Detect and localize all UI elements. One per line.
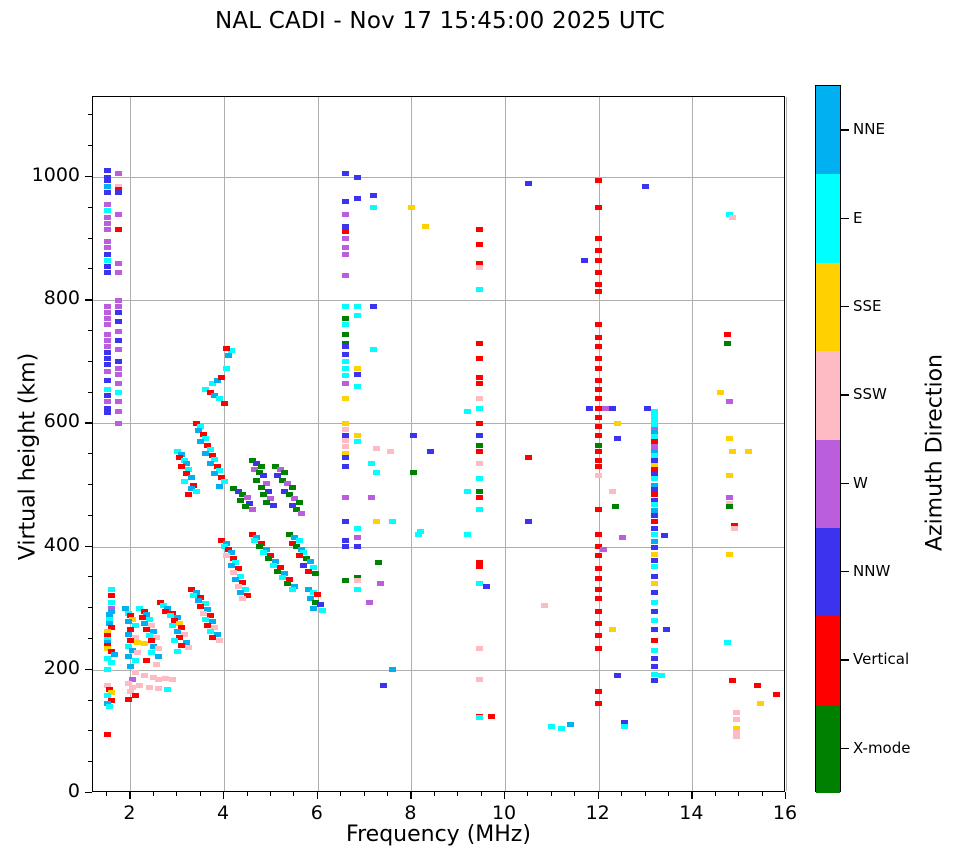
echo-cell (342, 273, 349, 278)
colorbar-segment (816, 528, 840, 616)
echo-cell (476, 433, 483, 438)
echo-cell (178, 643, 185, 648)
echo-cell (314, 592, 321, 597)
echo-cell (602, 406, 609, 411)
echo-cell (342, 245, 349, 250)
echo-cell (104, 393, 111, 398)
echo-cell (104, 322, 111, 327)
x-minor-tick (527, 792, 528, 796)
y-tick (85, 422, 92, 423)
echo-cell (155, 677, 162, 682)
echo-cell (595, 335, 602, 340)
echo-cell (108, 600, 115, 605)
x-minor-tick (293, 792, 294, 796)
echo-cell (342, 438, 349, 443)
echo-cell (300, 563, 307, 568)
colorbar-segment (816, 705, 840, 793)
echo-cell (651, 600, 658, 605)
echo-cell (104, 332, 111, 337)
echo-cell (207, 629, 214, 634)
echo-cell (342, 421, 349, 426)
echo-cell (251, 538, 258, 543)
x-minor-tick (364, 792, 365, 796)
echo-cell (342, 495, 349, 500)
y-tick (85, 176, 92, 177)
echo-cell (651, 519, 658, 524)
echo-cell (621, 724, 628, 729)
echo-cell (342, 578, 349, 583)
echo-cell (342, 373, 349, 378)
echo-cell (225, 353, 232, 358)
echo-cell (370, 347, 377, 352)
echo-cell (410, 433, 417, 438)
echo-cell (342, 538, 349, 543)
echo-cell (476, 375, 483, 380)
echo-cell (476, 443, 483, 448)
echo-cell (476, 356, 483, 361)
x-tick (598, 792, 599, 799)
colorbar-tick (841, 129, 849, 130)
echo-cell (237, 590, 244, 595)
echo-cell (354, 535, 361, 540)
echo-cell (377, 581, 384, 586)
x-tick-label: 16 (755, 802, 815, 824)
echo-cell (595, 646, 602, 651)
echo-cell (178, 464, 185, 469)
echo-cell (127, 664, 134, 669)
echo-cell (342, 544, 349, 549)
echo-cell (595, 248, 602, 253)
echo-cell (221, 401, 228, 406)
echo-cell (342, 444, 349, 449)
echo-cell (651, 664, 658, 669)
echo-cell (115, 421, 122, 426)
colorbar-tick (841, 306, 849, 307)
echo-cell (354, 304, 361, 309)
echo-cell (139, 615, 146, 620)
echo-cell (609, 489, 616, 494)
echo-cell (567, 722, 574, 727)
echo-cell (125, 697, 132, 702)
echo-cell (258, 485, 265, 490)
echo-cell (115, 319, 122, 324)
colorbar-segment (816, 616, 840, 704)
echo-cell (595, 566, 602, 571)
x-minor-tick (270, 792, 271, 796)
echo-cell (200, 611, 207, 616)
echo-cell (476, 265, 483, 270)
echo-cell (296, 553, 303, 558)
y-tick (85, 299, 92, 300)
x-tick (129, 792, 130, 799)
x-minor-tick (340, 792, 341, 796)
echo-cell (595, 270, 602, 275)
x-minor-tick (551, 792, 552, 796)
echo-cell (104, 304, 111, 309)
echo-cell (342, 455, 349, 460)
echo-cell (595, 406, 602, 411)
echo-cell (729, 215, 736, 220)
echo-cell (115, 359, 122, 364)
echo-cell (104, 378, 111, 383)
echo-cell (155, 686, 162, 691)
echo-cell (202, 451, 209, 456)
page-title: NAL CADI - Nov 17 15:45:00 2025 UTC (0, 8, 880, 34)
echo-cell (115, 227, 122, 232)
y-minor-tick (88, 268, 92, 269)
echo-cell (141, 673, 148, 678)
colorbar-title: Azimuth Direction (923, 293, 948, 613)
echo-cell (270, 503, 277, 508)
colorbar-segment (816, 174, 840, 262)
echo-cell (305, 569, 312, 574)
echo-cell (162, 676, 169, 681)
echo-cell (239, 596, 246, 601)
echo-cell (724, 332, 731, 337)
echo-cell (132, 658, 139, 663)
echo-cell (342, 236, 349, 241)
colorbar-segment (816, 263, 840, 351)
echo-cell (476, 507, 483, 512)
echo-cell (284, 581, 291, 586)
echo-cell (342, 332, 349, 337)
echo-cell (104, 208, 111, 213)
echo-cell (595, 344, 602, 349)
echo-cell (600, 547, 607, 552)
echo-cell (726, 495, 733, 500)
echo-cell (249, 507, 256, 512)
echo-cell (368, 495, 375, 500)
echo-cell (307, 559, 314, 564)
echo-cell (104, 356, 111, 361)
echo-cell (127, 638, 134, 643)
echo-cell (370, 205, 377, 210)
echo-cell (342, 359, 349, 364)
echo-cell (644, 406, 651, 411)
echo-cell (651, 678, 658, 683)
echo-cell (296, 538, 303, 543)
echo-cell (595, 689, 602, 694)
x-minor-tick (457, 792, 458, 796)
echo-cell (104, 245, 111, 250)
echo-cell (104, 215, 111, 220)
echo-cell (258, 464, 265, 469)
echo-cell (558, 726, 565, 731)
echo-cell (235, 584, 242, 589)
echo-cell (115, 409, 122, 414)
echo-cell (595, 443, 602, 448)
echo-cell (115, 304, 122, 309)
echo-cell (476, 476, 483, 481)
echo-cell (104, 732, 111, 737)
echo-cell (270, 563, 277, 568)
y-minor-tick (88, 730, 92, 731)
echo-cell (476, 461, 483, 466)
echo-cell (595, 178, 602, 183)
echo-cell (373, 446, 380, 451)
x-tick (691, 792, 692, 799)
echo-cell (342, 199, 349, 204)
echo-cell (164, 687, 171, 692)
echo-cell (354, 313, 361, 318)
echo-cell (174, 649, 181, 654)
echo-cell (115, 298, 122, 303)
echo-cell (354, 433, 361, 438)
echo-cell (651, 552, 658, 557)
colorbar-label: Vertical (853, 650, 909, 668)
x-axis-title: Frequency (MHz) (92, 822, 785, 847)
echo-cell (595, 553, 602, 558)
x-tick (223, 792, 224, 799)
echo-cell (216, 638, 223, 643)
echo-cell (595, 621, 602, 626)
echo-cell (595, 587, 602, 592)
echo-cell (366, 600, 373, 605)
colorbar-label: E (853, 209, 862, 227)
echo-cell (595, 633, 602, 638)
y-minor-tick (88, 114, 92, 115)
gridline-vertical (786, 97, 787, 791)
echo-cell (342, 229, 349, 234)
echo-cell (595, 473, 602, 478)
echo-cell (342, 316, 349, 321)
echo-cell (104, 270, 111, 275)
echo-cell (354, 526, 361, 531)
echo-cell (619, 535, 626, 540)
echo-cell (354, 384, 361, 389)
echo-cell (104, 310, 111, 315)
colorbar-label: X-mode (853, 739, 910, 757)
echo-cell (375, 560, 382, 565)
echo-cell (581, 258, 588, 263)
echo-cell (745, 449, 752, 454)
echo-cell (115, 399, 122, 404)
colorbar-tick (841, 394, 849, 395)
echo-cell (193, 489, 200, 494)
echo-cell (171, 638, 178, 643)
echo-cell (525, 455, 532, 460)
echo-cell (476, 287, 483, 292)
echo-cell (317, 602, 324, 607)
y-axis-title: Virtual height (km) (16, 307, 41, 607)
echo-cell (726, 436, 733, 441)
echo-cell (342, 381, 349, 386)
echo-cell (108, 593, 115, 598)
colorbar-label: SSW (853, 385, 887, 403)
echo-cell (476, 406, 483, 411)
echo-cell (253, 478, 260, 483)
x-minor-tick (153, 792, 154, 796)
echo-cell (298, 511, 305, 516)
echo-cell (651, 545, 658, 550)
y-tick (85, 669, 92, 670)
echo-cell (115, 381, 122, 386)
y-minor-tick (88, 392, 92, 393)
echo-cell (726, 504, 733, 509)
echo-cell (216, 484, 223, 489)
y-minor-tick (88, 576, 92, 577)
echo-cell (209, 635, 216, 640)
echo-cell (464, 409, 471, 414)
y-tick-label: 0 (10, 780, 80, 802)
echo-cell (104, 316, 111, 321)
echo-cell (143, 658, 150, 663)
echo-cell (312, 571, 319, 576)
echo-cell (223, 346, 230, 351)
echo-cell (663, 627, 670, 632)
echo-cell (115, 171, 122, 176)
x-minor-tick (176, 792, 177, 796)
echo-cell (104, 252, 111, 257)
echo-cell (422, 224, 429, 229)
echo-cell (296, 500, 303, 505)
echo-cell (661, 533, 668, 538)
echo-cell (595, 576, 602, 581)
echo-cell (651, 672, 658, 677)
colorbar-tick (841, 571, 849, 572)
echo-cell (104, 184, 111, 189)
echo-cell (595, 701, 602, 706)
x-tick (317, 792, 318, 799)
echo-cell (104, 344, 111, 349)
echo-cell (342, 396, 349, 401)
echo-cell (115, 190, 122, 195)
echo-cell (108, 587, 115, 592)
echo-cell (651, 513, 658, 518)
echo-cell (265, 556, 272, 561)
x-tick-label: 2 (99, 802, 159, 824)
echo-cell (380, 683, 387, 688)
echo-cell (595, 596, 602, 601)
echo-cell (373, 470, 380, 475)
echo-cell (595, 449, 602, 454)
echo-cell (197, 604, 204, 609)
echo-cell (651, 648, 658, 653)
colorbar-tick (841, 483, 849, 484)
echo-cell (174, 629, 181, 634)
x-tick-label: 12 (568, 802, 628, 824)
colorbar-segment (816, 440, 840, 528)
echo-cell (310, 606, 317, 611)
echo-cell (729, 449, 736, 454)
y-minor-tick (88, 145, 92, 146)
echo-cell (104, 410, 111, 415)
echo-cell (612, 504, 619, 509)
echo-cell (410, 470, 417, 475)
echo-cell (260, 473, 267, 478)
x-minor-tick (434, 792, 435, 796)
echo-cell (136, 683, 143, 688)
echo-cell (525, 181, 532, 186)
echo-cell (230, 570, 237, 575)
echo-cell (726, 552, 733, 557)
echo-cell (204, 623, 211, 628)
echo-cell (476, 341, 483, 346)
colorbar-segment (816, 351, 840, 439)
x-minor-tick (200, 792, 201, 796)
scatter-cells (93, 97, 784, 791)
echo-cell (104, 338, 111, 343)
echo-cell (476, 564, 483, 569)
x-minor-tick (387, 792, 388, 796)
echo-cell (342, 344, 349, 349)
echo-cell (169, 623, 176, 628)
echo-cell (202, 617, 209, 622)
echo-cell (354, 196, 361, 201)
echo-cell (169, 677, 176, 682)
x-tick-label: 10 (474, 802, 534, 824)
echo-cell (342, 464, 349, 469)
x-tick (410, 792, 411, 799)
echo-cell (289, 587, 296, 592)
echo-cell (115, 390, 122, 395)
colorbar-label: SSE (853, 297, 882, 315)
echo-cell (483, 584, 490, 589)
echo-cell (232, 577, 239, 582)
colorbar-tick (841, 748, 849, 749)
x-tick-label: 4 (193, 802, 253, 824)
echo-cell (476, 227, 483, 232)
echo-cell (651, 492, 658, 497)
echo-cell (132, 670, 139, 675)
echo-cell (595, 424, 602, 429)
echo-cell (223, 366, 230, 371)
y-minor-tick (88, 607, 92, 608)
x-tick-label: 6 (287, 802, 347, 824)
echo-cell (104, 264, 111, 269)
echo-cell (115, 347, 122, 352)
echo-cell (104, 258, 111, 263)
echo-cell (642, 184, 649, 189)
echo-cell (370, 193, 377, 198)
echo-cell (595, 433, 602, 438)
echo-cell (548, 724, 555, 729)
colorbar-label: NNE (853, 120, 885, 138)
x-tick (504, 792, 505, 799)
echo-cell (427, 449, 434, 454)
echo-cell (651, 476, 658, 481)
echo-cell (115, 310, 122, 315)
echo-cell (108, 660, 115, 665)
echo-cell (260, 492, 267, 497)
y-minor-tick (88, 484, 92, 485)
echo-cell (354, 439, 361, 444)
echo-cell (733, 717, 740, 722)
echo-cell (242, 504, 249, 509)
echo-cell (726, 399, 733, 404)
echo-cell (614, 436, 621, 441)
echo-cell (342, 366, 349, 371)
echo-cell (279, 575, 286, 580)
y-tick-label: 1000 (10, 164, 80, 186)
echo-cell (111, 652, 118, 657)
echo-cell (717, 390, 724, 395)
echo-cell (115, 372, 122, 377)
x-minor-tick (668, 792, 669, 796)
echo-cell (488, 714, 495, 719)
x-minor-tick (715, 792, 716, 796)
echo-cell (104, 667, 111, 672)
echo-cell (263, 500, 270, 505)
echo-cell (595, 322, 602, 327)
y-minor-tick (88, 700, 92, 701)
plot-area (92, 96, 785, 792)
echo-cell (476, 715, 483, 720)
echo-cell (342, 322, 349, 327)
echo-cell (148, 638, 155, 643)
echo-cell (389, 667, 396, 672)
echo-cell (148, 650, 155, 655)
